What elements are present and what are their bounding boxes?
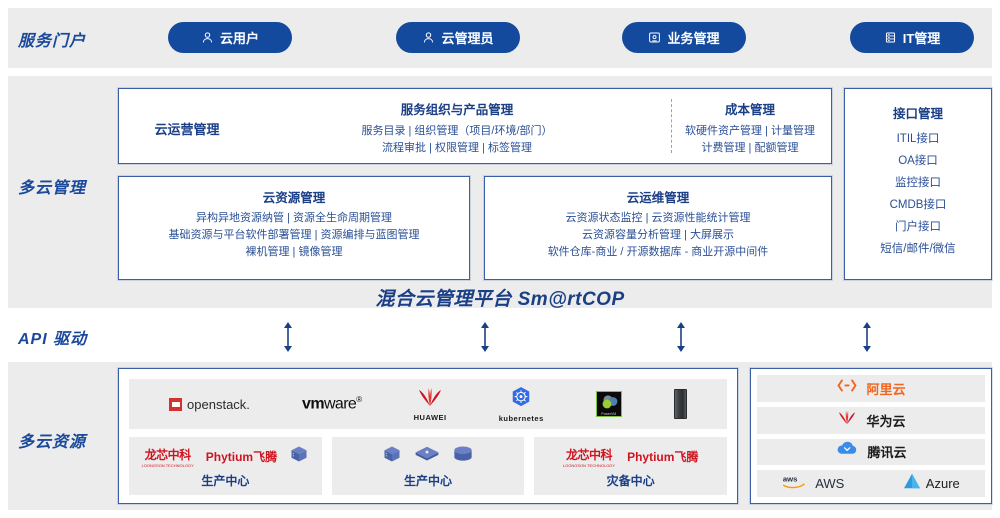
kubernetes-helm-icon (510, 386, 532, 413)
portal-button-cloud-user[interactable]: 云用户 (168, 22, 292, 53)
double-arrow-icon (282, 320, 294, 359)
interface-item[interactable]: ITIL接口 (845, 128, 991, 150)
datacenter-tile-production-2[interactable]: 生产中心 (332, 437, 525, 495)
aws-icon: aws (782, 473, 810, 495)
user-icon (422, 31, 435, 44)
logo-server-rack (674, 389, 687, 419)
interface-item[interactable]: 门户接口 (845, 216, 991, 238)
interface-item[interactable]: 短信/邮件/微信 (845, 238, 991, 260)
svg-text:aws: aws (783, 474, 798, 483)
interface-item[interactable]: OA接口 (845, 150, 991, 172)
datacenter-label: 生产中心 (404, 472, 452, 489)
interface-item[interactable]: CMDB接口 (845, 194, 991, 216)
datacenter-tile-production-1[interactable]: 龙芯中科 LOONGSON TECHNOLOGY Phytium飞腾 生产中心 (129, 437, 322, 495)
subsection-line: 流程审批 | 权限管理 | 标签管理 (247, 140, 667, 157)
public-cloud-row-alibaba[interactable]: 阿里云 (757, 375, 985, 402)
portal-button-label: 业务管理 (667, 28, 719, 47)
huawei-flower-icon (415, 387, 445, 412)
double-arrow-icon (675, 320, 687, 359)
interface-item[interactable]: 监控接口 (845, 172, 991, 194)
public-cloud-label: 阿里云 (866, 379, 905, 398)
logo-loongson: 龙芯中科 LOONGSON TECHNOLOGY (563, 446, 615, 468)
logo-openstack: openstack. (169, 397, 250, 412)
card-cloud-maintenance-management[interactable]: 云运维管理 云资源状态监控 | 云资源性能统计管理 云资源容量分析管理 | 大屏… (484, 176, 832, 280)
logo-caption: kubernetes (499, 414, 544, 423)
public-cloud-row-tencent[interactable]: 腾讯云 (757, 439, 985, 466)
public-cloud-row-aws-azure[interactable]: aws AWS Azure (757, 470, 985, 497)
vertical-dashed-divider (671, 99, 672, 153)
logo-huawei: HUAWEI (414, 387, 447, 422)
logo-wordmark: 龙芯中科 (566, 446, 612, 463)
portal-button-label: IT管理 (903, 28, 941, 47)
row-label-multicloud-management: 多云管理 (18, 174, 86, 198)
public-cloud-label: 华为云 (866, 411, 905, 430)
window-icon (648, 31, 661, 44)
public-cloud-item-aws[interactable]: aws AWS (782, 473, 844, 495)
diagram-canvas: 服务门户 云用户 云管理员 业务管理 IT管理 多云管理 云运营管理 服务组织与… (0, 0, 1000, 518)
portal-button-label: 云用户 (220, 28, 259, 47)
subsection-cost-management: 成本管理 软硬件资产管理 | 计量管理 计费管理 | 配额管理 (675, 99, 825, 157)
logo-phytium: Phytium飞腾 (627, 448, 698, 465)
card-cloud-operation-management[interactable]: 云运营管理 服务组织与产品管理 服务目录 | 组织管理（项目/环境/部门） 流程… (118, 88, 832, 164)
public-cloud-panel: 阿里云 华为云 腾讯云 (750, 368, 992, 504)
server-chip-icon (382, 444, 402, 469)
logo-loongson: 龙芯中科 LOONGSON TECHNOLOGY (142, 446, 194, 468)
server-icon (884, 31, 897, 44)
card-line: 云资源状态监控 | 云资源性能统计管理 (485, 210, 831, 227)
logo-phytium: Phytium飞腾 (206, 448, 277, 465)
card-line: 软件仓库-商业 / 开源数据库 - 商业开源中间件 (485, 244, 831, 261)
public-cloud-label: AWS (815, 476, 844, 491)
card-line: 云资源容量分析管理 | 大屏展示 (485, 227, 831, 244)
logo-caption: PowerVM (601, 411, 616, 415)
server-chip-icon (289, 444, 309, 469)
powervm-icon: PowerVM (596, 391, 622, 417)
logo-subtext: LOONGSON TECHNOLOGY (563, 463, 615, 468)
public-cloud-item-azure[interactable]: Azure (903, 473, 960, 494)
logo-subtext: LOONGSON TECHNOLOGY (142, 463, 194, 468)
api-driven-band (8, 314, 992, 358)
logo-caption: HUAWEI (414, 413, 447, 422)
card-cloud-resource-management[interactable]: 云资源管理 异构异地资源纳管 | 资源全生命周期管理 基础资源与平台软件部署管理… (118, 176, 470, 280)
storage-chip-icon (414, 444, 440, 469)
card-line: 异构异地资源纳管 | 资源全生命周期管理 (119, 210, 469, 227)
database-chip-icon (452, 445, 474, 468)
datacenter-label: 灾备中心 (607, 472, 655, 489)
logo-wordmark-bold: vm (302, 395, 324, 412)
row-label-api-driven: API 驱动 (18, 325, 87, 349)
card-line: 裸机管理 | 镜像管理 (119, 244, 469, 261)
openstack-icon (169, 398, 182, 411)
datacenter-tile-disaster-recovery[interactable]: 龙芯中科 LOONGSON TECHNOLOGY Phytium飞腾 灾备中心 (534, 437, 727, 495)
portal-button-cloud-admin[interactable]: 云管理员 (396, 22, 520, 53)
private-cloud-panel: openstack. vmware® (118, 368, 738, 504)
server-rack-icon (674, 389, 687, 419)
public-cloud-label: Azure (926, 476, 960, 491)
azure-icon (903, 473, 921, 494)
datacenter-label: 生产中心 (201, 472, 249, 489)
card-title: 接口管理 (845, 103, 991, 122)
logo-wordmark-rest: ware (324, 395, 356, 412)
row-label-service-portal: 服务门户 (18, 27, 86, 51)
user-icon (201, 31, 214, 44)
datacenter-tiles-row: 龙芯中科 LOONGSON TECHNOLOGY Phytium飞腾 生产中心 (129, 437, 727, 495)
card-line: 基础资源与平台软件部署管理 | 资源编排与蓝图管理 (119, 227, 469, 244)
subsection-line: 软硬件资产管理 | 计量管理 (675, 123, 825, 140)
subsection-title: 成本管理 (675, 99, 825, 118)
logo-powervm: PowerVM (596, 391, 622, 417)
double-arrow-icon (861, 320, 873, 359)
logo-kubernetes: kubernetes (499, 386, 544, 423)
hypervisor-logo-strip: openstack. vmware® (129, 379, 727, 429)
card-title: 云运维管理 (485, 187, 831, 206)
card-interface-management[interactable]: 接口管理 ITIL接口 OA接口 监控接口 CMDB接口 门户接口 短信/邮件/… (844, 88, 992, 280)
public-cloud-row-huawei[interactable]: 华为云 (757, 407, 985, 434)
public-cloud-label: 腾讯云 (867, 442, 906, 461)
row-label-multicloud-resource: 多云资源 (18, 428, 86, 452)
platform-name-caption: 混合云管理平台 Sm@rtCOP (0, 284, 1000, 311)
card-side-title: 云运营管理 (135, 119, 239, 138)
subsection-title: 服务组织与产品管理 (247, 99, 667, 118)
logo-vmware: vmware® (302, 395, 362, 413)
huawei-cloud-icon (836, 410, 858, 430)
portal-button-label: 云管理员 (441, 28, 493, 47)
card-title: 云资源管理 (119, 187, 469, 206)
subsection-line: 计费管理 | 配额管理 (675, 140, 825, 157)
portal-button-business-mgmt[interactable]: 业务管理 (622, 22, 746, 53)
alibaba-cloud-icon (836, 378, 858, 398)
logo-wordmark: openstack. (187, 397, 250, 412)
portal-button-it-mgmt[interactable]: IT管理 (850, 22, 974, 53)
tencent-cloud-icon (835, 441, 859, 462)
subsection-service-org-product: 服务组织与产品管理 服务目录 | 组织管理（项目/环境/部门） 流程审批 | 权… (247, 99, 667, 157)
logo-wordmark: 龙芯中科 (145, 446, 191, 463)
subsection-line: 服务目录 | 组织管理（项目/环境/部门） (247, 123, 667, 140)
double-arrow-icon (479, 320, 491, 359)
